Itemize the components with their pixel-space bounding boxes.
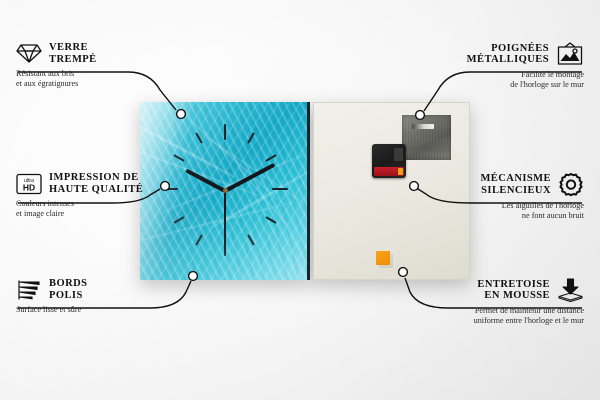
polished-edges-icon [16, 279, 42, 301]
product-image [140, 102, 470, 280]
feature-header: MÉCANISME SILENCIEUX [424, 172, 584, 197]
battery [374, 167, 404, 176]
foam-spacer-arrow-icon [557, 278, 584, 302]
feature-header: ultra HD IMPRESSION DE HAUTE QUALITÉ [16, 172, 166, 195]
battery-terminal [398, 168, 403, 175]
feature-mecanisme-silencieux: MÉCANISME SILENCIEUX Les aiguilles de l'… [424, 172, 584, 220]
feature-subtitle: Couleurs intenses et image claire [16, 195, 166, 218]
feature-subtitle: Surface lisse et sûre [16, 301, 166, 315]
svg-text:HD: HD [23, 182, 35, 192]
mechanism-detail [394, 148, 403, 161]
wall-mount-frame-icon [556, 42, 584, 66]
feature-header: ENTRETOISE EN MOUSSE [409, 278, 584, 302]
feature-title: VERRE TREMPÉ [49, 42, 97, 65]
feature-title: IMPRESSION DE HAUTE QUALITÉ [49, 172, 143, 195]
gear-icon [558, 172, 584, 197]
feature-impression-hd: ultra HD IMPRESSION DE HAUTE QUALITÉ Cou… [16, 172, 166, 218]
feature-entretoise-mousse: ENTRETOISE EN MOUSSE Permet de maintenir… [409, 278, 584, 325]
feature-bords-polis: BORDS POLIS Surface lisse et sûre [16, 278, 166, 315]
feature-subtitle: Les aiguilles de l'horloge ne font aucun… [424, 197, 584, 220]
feature-verre-trempe: VERRE TREMPÉ Résistant aux bris et aux é… [16, 42, 166, 88]
feature-title: MÉCANISME SILENCIEUX [480, 173, 551, 196]
ultra-hd-icon: ultra HD [16, 173, 42, 195]
quartz-mechanism-box [372, 144, 406, 178]
diamond-icon [16, 43, 42, 64]
feature-subtitle: Permet de maintenir une distance uniform… [409, 302, 584, 325]
metal-hanger-plate [402, 115, 451, 160]
feature-subtitle: Facilite le montage de l'horloge sur le … [424, 66, 584, 89]
hanger-slot [412, 124, 434, 129]
feature-subtitle: Résistant aux bris et aux égratignures [16, 65, 166, 88]
feature-title: BORDS POLIS [49, 278, 87, 301]
feature-header: POIGNÉES MÉTALLIQUES [424, 42, 584, 66]
feature-title: ENTRETOISE EN MOUSSE [477, 279, 550, 302]
foam-spacer [376, 251, 390, 265]
feature-title: POIGNÉES MÉTALLIQUES [467, 43, 549, 66]
feature-header: BORDS POLIS [16, 278, 166, 301]
infographic-canvas: VERRE TREMPÉ Résistant aux bris et aux é… [0, 0, 600, 400]
feature-poignees-metalliques: POIGNÉES MÉTALLIQUES Facilite le montage… [424, 42, 584, 89]
feature-header: VERRE TREMPÉ [16, 42, 166, 65]
